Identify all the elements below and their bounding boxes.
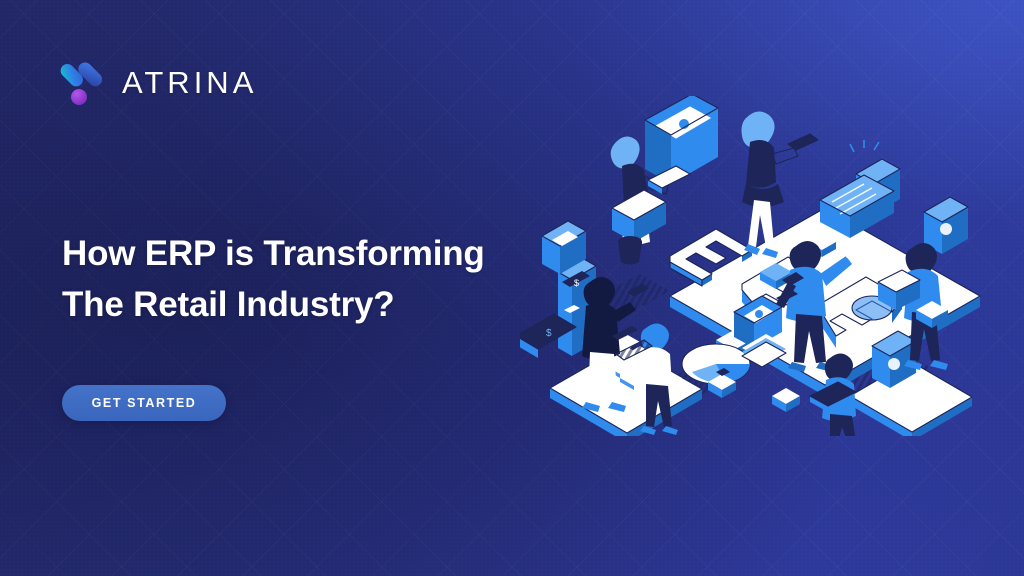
erp-isometric-illustration: .w{fill:#ffffff} .az{fill:#2f8bee} .azl{… <box>520 96 1010 436</box>
get-started-button[interactable]: GET STARTED <box>62 385 226 421</box>
page-title: How ERP is Transforming The Retail Indus… <box>62 228 582 331</box>
headline-line-2: The Retail Industry? <box>62 279 582 330</box>
svg-text:$: $ <box>574 278 579 288</box>
headline-line-1: How ERP is Transforming <box>62 228 582 279</box>
brand-name: ATRINA <box>122 67 257 98</box>
hero-banner: ATRINA How ERP is Transforming The Retai… <box>0 0 1024 576</box>
atrina-arrow-mark-icon <box>60 57 108 107</box>
brand-logo[interactable]: ATRINA <box>60 57 257 107</box>
svg-text:$: $ <box>546 328 552 339</box>
hero-copy: How ERP is Transforming The Retail Indus… <box>62 228 582 331</box>
